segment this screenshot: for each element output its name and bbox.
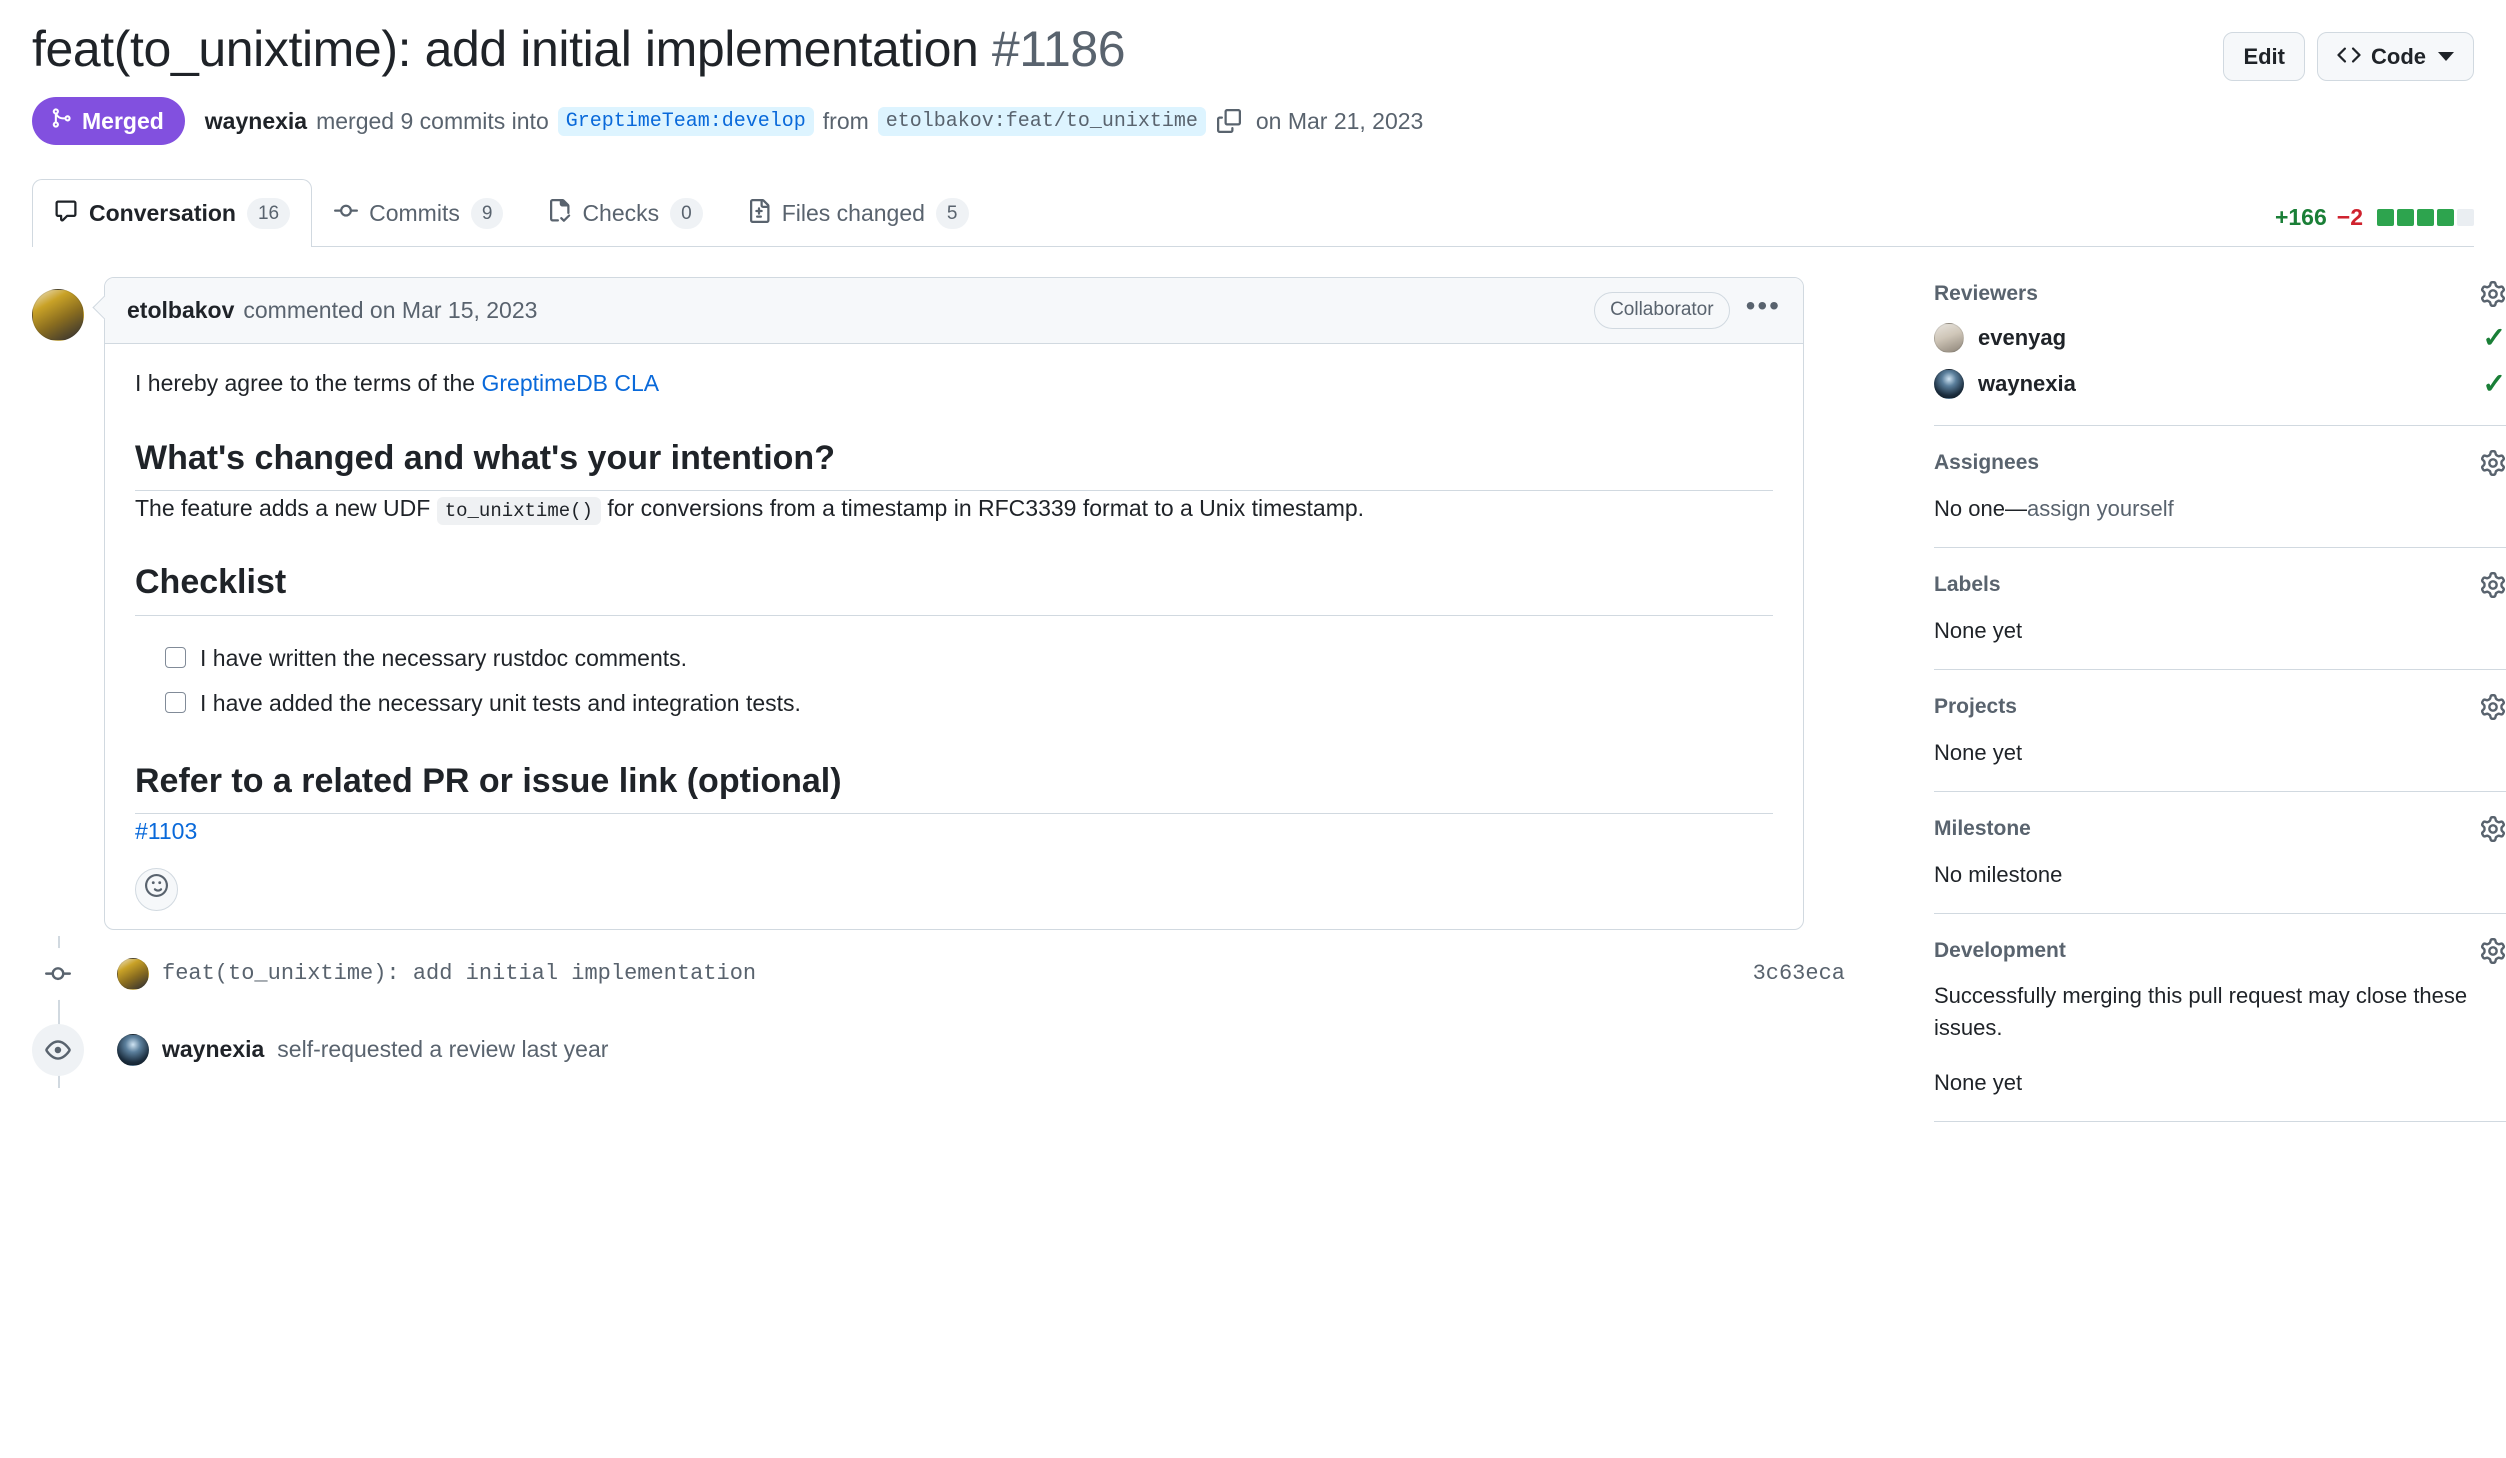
comment-header-actions: Collaborator ••• [1594,292,1781,330]
code-brackets-icon [2337,43,2361,71]
sidebar-title-projects: Projects [1934,695,2017,719]
pr-tabs: Conversation 16 Commits 9 Checks 0 Files… [32,179,2474,247]
pr-header: feat(to_unixtime): add initial implement… [32,0,2474,81]
checklist: I have written the necessary rustdoc com… [165,642,1773,719]
list-item: I have written the necessary rustdoc com… [165,642,1773,674]
sidebar-title-labels: Labels [1934,573,2001,597]
diff-block [2437,209,2454,226]
development-empty: None yet [1934,1066,2506,1099]
gear-icon[interactable] [2480,450,2506,476]
sidebar-section-header: Projects [1934,694,2506,720]
sidebar-section-header: Milestone [1934,816,2506,842]
sidebar-section-header: Reviewers [1934,281,2506,307]
issue-comment: etolbakov commented on Mar 15, 2023 Coll… [32,277,1887,930]
checklist-label: I have added the necessary unit tests an… [200,687,801,719]
assignees-empty-prefix: No one— [1934,496,2027,521]
diff-stat[interactable]: +166 −2 [2275,204,2474,247]
sidebar-title-development: Development [1934,939,2066,963]
base-branch-chip[interactable]: GreptimeTeam:develop [558,107,814,136]
sidebar-section-assignees: Assignees No one—assign yourself [1934,450,2506,548]
diff-block [2377,209,2394,226]
avatar[interactable] [32,289,84,341]
cla-link[interactable]: GreptimeDB CLA [481,370,659,396]
approved-check-icon: ✓ [2483,370,2506,398]
sidebar-section-reviewers: Reviewers evenyag ✓ waynexia ✓ [1934,281,2506,426]
sidebar-section-labels: Labels None yet [1934,572,2506,670]
tab-checks-count: 0 [670,198,703,230]
eye-icon [32,1024,84,1076]
copy-icon[interactable] [1217,109,1241,133]
commit-sha[interactable]: 3c63eca [1753,961,1887,986]
tab-conversation-count: 16 [247,198,290,230]
timeline-actor[interactable]: waynexia [162,1036,264,1063]
author-role-badge: Collaborator [1594,292,1730,329]
tab-files-changed-count: 5 [936,198,969,230]
heading-checklist: Checklist [135,560,1773,615]
diff-block [2397,209,2414,226]
gear-icon[interactable] [2480,572,2506,598]
timeline-badge [32,948,84,1000]
sidebar-section-header: Labels [1934,572,2506,598]
git-merge-icon [50,107,72,135]
comment-icon [54,199,78,229]
checks-icon [547,199,571,229]
add-reaction-button[interactable] [135,868,178,911]
checkbox-tests[interactable] [165,692,186,713]
merge-actor[interactable]: waynexia [205,108,307,135]
intention-pre: The feature adds a new UDF [135,495,430,521]
milestone-empty-text: No milestone [1934,862,2062,887]
tab-conversation-label: Conversation [89,200,236,227]
status-badge: Merged [32,97,185,145]
comment-meta: commented on Mar 15, 2023 [243,297,537,324]
merge-verb: merged 9 commits into [316,108,549,135]
gear-icon[interactable] [2480,694,2506,720]
diff-blocks [2377,209,2474,226]
sidebar: Reviewers evenyag ✓ waynexia ✓ [1887,277,2506,1146]
pr-body: etolbakov commented on Mar 15, 2023 Coll… [32,277,2474,1146]
heading-refer: Refer to a related PR or issue link (opt… [135,759,1773,814]
tab-checks[interactable]: Checks 0 [525,179,724,247]
sidebar-section-projects: Projects None yet [1934,694,2506,792]
avatar[interactable] [117,958,149,990]
labels-empty: None yet [1934,614,2506,647]
timeline-badge [32,1024,84,1076]
milestone-empty: No milestone [1934,858,2506,891]
sidebar-title-milestone: Milestone [1934,817,2031,841]
tab-files-changed[interactable]: Files changed 5 [725,179,991,247]
development-note: Successfully merging this pull request m… [1934,980,2506,1044]
diff-additions: +166 [2275,204,2327,231]
assignees-empty: No one—assign yourself [1934,492,2506,525]
comment-body: I hereby agree to the terms of the Grept… [105,344,1803,929]
timeline-commit-content: feat(to_unixtime): add initial implement… [117,958,1887,990]
merge-summary: waynexia merged 9 commits into GreptimeT… [205,107,1424,136]
smiley-icon [145,872,168,908]
assign-yourself-link[interactable]: assign yourself [2027,496,2174,521]
gear-icon[interactable] [2480,281,2506,307]
merge-date: on Mar 21, 2023 [1256,108,1424,135]
commit-message[interactable]: feat(to_unixtime): add initial implement… [162,961,756,986]
timeline-column: etolbakov commented on Mar 15, 2023 Coll… [32,277,1887,1146]
related-issue-link[interactable]: #1103 [135,818,197,844]
sidebar-section-milestone: Milestone No milestone [1934,816,2506,914]
inline-code: to_unixtime() [437,497,601,525]
reviewer-name: evenyag [1978,325,2066,351]
approved-check-icon: ✓ [2483,324,2506,352]
header-actions: Edit Code [2223,18,2474,81]
avatar [1934,323,1964,353]
heading-intention: What's changed and what's your intention… [135,436,1773,491]
head-branch-chip[interactable]: etolbakov:feat/to_unixtime [878,107,1206,136]
tab-conversation[interactable]: Conversation 16 [32,179,312,247]
code-button-label: Code [2371,46,2426,68]
sidebar-title-reviewers: Reviewers [1934,282,2038,306]
intention-paragraph: The feature adds a new UDF to_unixtime()… [135,491,1773,527]
ref-paragraph: #1103 [135,814,1773,850]
gear-icon[interactable] [2480,816,2506,842]
pr-title-text: feat(to_unixtime): add initial implement… [32,21,978,77]
projects-empty: None yet [1934,736,2506,769]
timeline-review-request-row: waynexia self-requested a review last ye… [32,1012,1887,1088]
timeline-text: self-requested a review last year [277,1036,608,1063]
diff-block [2417,209,2434,226]
page-title: feat(to_unixtime): add initial implement… [32,18,1125,81]
reviewer-evenyag[interactable]: evenyag ✓ [1934,323,2506,353]
kebab-menu-icon[interactable]: ••• [1746,292,1781,330]
list-item: I have added the necessary unit tests an… [165,687,1773,719]
code-button[interactable]: Code [2317,32,2474,81]
pull-request-page: feat(to_unixtime): add initial implement… [0,0,2506,1146]
tab-commits-count: 9 [471,198,504,230]
timeline-list: feat(to_unixtime): add initial implement… [32,936,1887,1088]
sidebar-section-header: Development [1934,938,2506,964]
pr-number: #1186 [992,21,1125,77]
commit-icon [32,948,84,1000]
diff-deletions: −2 [2337,204,2363,231]
gear-icon[interactable] [2480,938,2506,964]
checkbox-rustdoc[interactable] [165,647,186,668]
commit-icon [334,199,358,229]
checklist-label: I have written the necessary rustdoc com… [200,642,687,674]
tab-commits-label: Commits [369,200,460,227]
sidebar-section-header: Assignees [1934,450,2506,476]
file-diff-icon [747,199,771,229]
tab-commits[interactable]: Commits 9 [312,179,525,247]
sidebar-section-development: Development Successfully merging this pu… [1934,938,2506,1122]
comment-box: etolbakov commented on Mar 15, 2023 Coll… [104,277,1804,930]
edit-button[interactable]: Edit [2223,32,2305,81]
comment-header: etolbakov commented on Mar 15, 2023 Coll… [105,278,1803,344]
reviewer-name: waynexia [1978,371,2076,397]
comment-author[interactable]: etolbakov [127,297,234,324]
tab-files-changed-label: Files changed [782,200,925,227]
tab-checks-label: Checks [582,200,659,227]
timeline-commit-row: feat(to_unixtime): add initial implement… [32,936,1887,1012]
sidebar-title-assignees: Assignees [1934,451,2039,475]
pr-state-row: Merged waynexia merged 9 commits into Gr… [32,97,2474,145]
intention-post: for conversions from a timestamp in RFC3… [607,495,1364,521]
timeline-review-content: waynexia self-requested a review last ye… [117,1034,1887,1066]
diff-block [2457,209,2474,226]
avatar[interactable] [117,1034,149,1066]
reviewer-waynexia[interactable]: waynexia ✓ [1934,369,2506,399]
chevron-down-icon [2438,52,2454,61]
status-badge-label: Merged [82,108,164,135]
avatar [1934,369,1964,399]
cla-paragraph: I hereby agree to the terms of the Grept… [135,366,1773,402]
from-word: from [823,108,869,135]
cla-text: I hereby agree to the terms of the [135,370,475,396]
